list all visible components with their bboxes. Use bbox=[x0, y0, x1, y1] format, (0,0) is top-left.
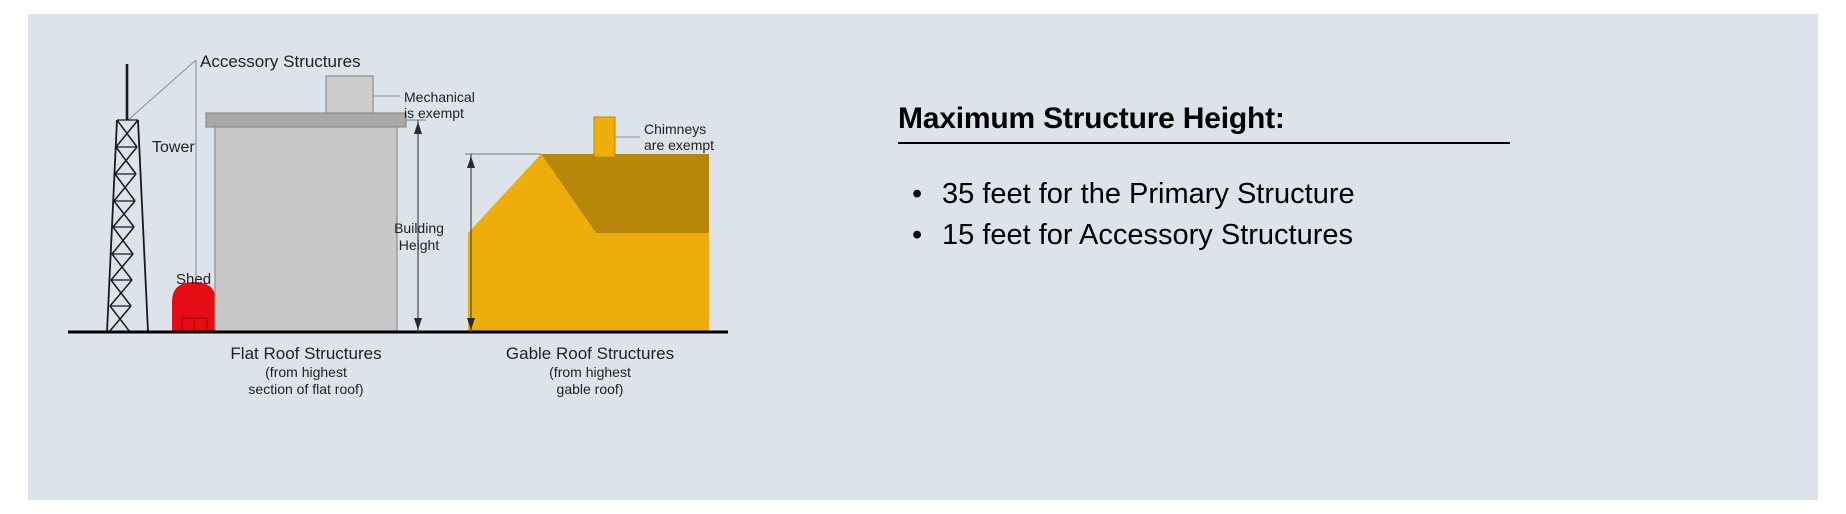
bullet-marker-icon: • bbox=[912, 174, 922, 215]
leader-line-tower bbox=[128, 60, 196, 120]
list-item: • 35 feet for the Primary Structure bbox=[898, 174, 1538, 215]
max-height-bullet-list: • 35 feet for the Primary Structure • 15… bbox=[898, 174, 1538, 256]
label-chimneys-exempt-line2: are exempt bbox=[644, 137, 714, 153]
chimney bbox=[594, 117, 615, 157]
max-height-text-panel: Maximum Structure Height: • 35 feet for … bbox=[898, 102, 1538, 256]
label-tower: Tower bbox=[152, 139, 195, 156]
list-item-label: 15 feet for Accessory Structures bbox=[942, 219, 1353, 251]
tower-structure bbox=[107, 64, 148, 332]
tower-rail-right bbox=[138, 120, 148, 332]
list-item-label: 35 feet for the Primary Structure bbox=[942, 178, 1355, 210]
caption-gable-roof-title: Gable Roof Structures bbox=[506, 344, 674, 363]
caption-flat-roof-sub1: (from highest bbox=[265, 364, 347, 380]
label-mechanical-exempt-line2: is exempt bbox=[404, 105, 464, 121]
label-building-height-line2: Height bbox=[399, 237, 440, 253]
flat-roof-building-body bbox=[215, 127, 397, 332]
label-accessory-structures: Accessory Structures bbox=[200, 52, 361, 71]
structure-height-diagram: Accessory Structures Tower Shed Mechanic… bbox=[28, 14, 928, 500]
mechanical-unit bbox=[326, 76, 373, 113]
caption-gable-roof-sub2: gable roof) bbox=[557, 381, 624, 397]
content-panel: Accessory Structures Tower Shed Mechanic… bbox=[28, 14, 1818, 500]
gable-right-wall bbox=[596, 233, 709, 332]
flat-roof-slab bbox=[206, 113, 406, 127]
label-chimneys-exempt-line1: Chimneys bbox=[644, 121, 706, 137]
page-title: Maximum Structure Height: bbox=[898, 102, 1510, 144]
caption-flat-roof-sub2: section of flat roof) bbox=[248, 381, 363, 397]
caption-flat-roof-title: Flat Roof Structures bbox=[230, 344, 381, 363]
flat-roof-building bbox=[206, 76, 406, 332]
shed-structure bbox=[172, 282, 216, 332]
tower-lattice-bracing bbox=[109, 120, 138, 332]
label-mechanical-exempt-line1: Mechanical bbox=[404, 89, 475, 105]
list-item: • 15 feet for Accessory Structures bbox=[898, 215, 1538, 256]
label-building-height-line1: Building bbox=[394, 220, 444, 236]
page-root: Accessory Structures Tower Shed Mechanic… bbox=[0, 0, 1846, 514]
caption-gable-roof-sub1: (from highest bbox=[549, 364, 631, 380]
bullet-marker-icon: • bbox=[912, 215, 922, 256]
label-shed: Shed bbox=[176, 271, 211, 288]
